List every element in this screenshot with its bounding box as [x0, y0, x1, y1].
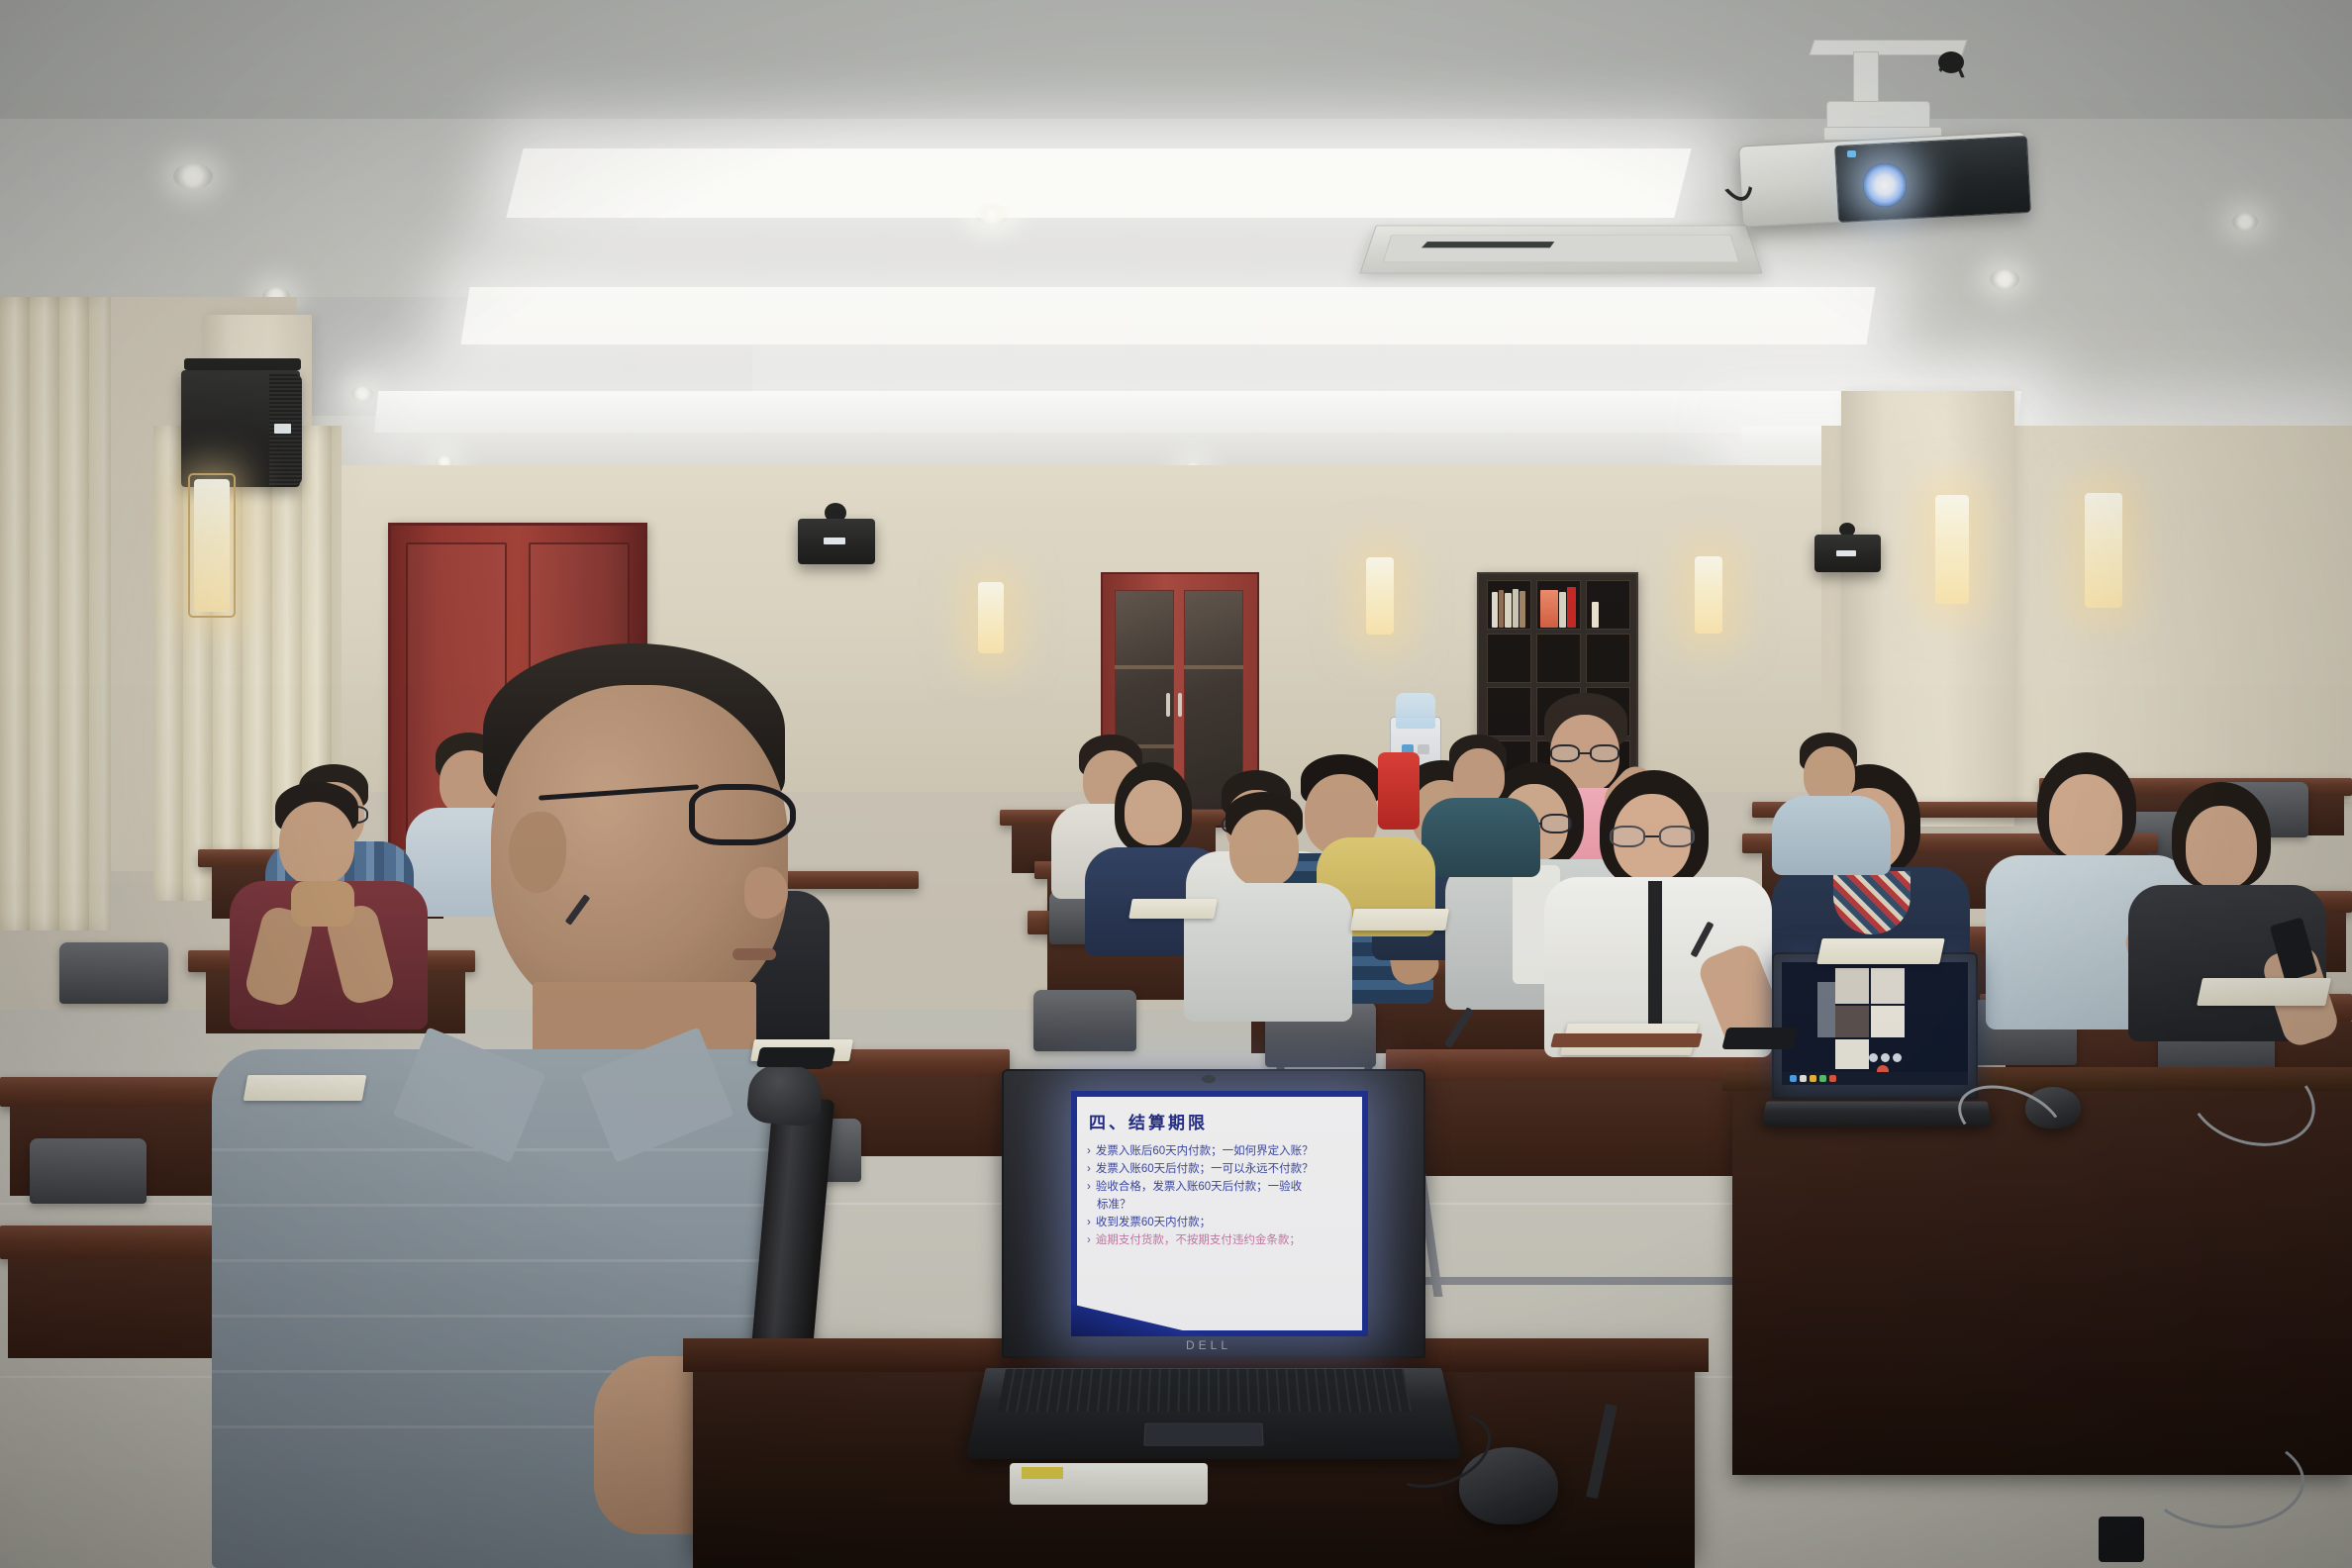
ceiling-light-panel-1 [506, 148, 1691, 218]
book-4 [1513, 589, 1519, 628]
projector-status-led [1847, 150, 1856, 157]
attendee-back-right-blue [1772, 733, 1891, 861]
slide-bullet-text-3: 验收合格，发票入账60天后付款；一验收 [1096, 1178, 1302, 1196]
wall-sconce-3 [1695, 556, 1722, 634]
shelf-cell-6 [1586, 634, 1630, 683]
book-3 [1505, 593, 1512, 628]
projector-cable-grommet [1938, 51, 1964, 73]
vc-dock-icon-3[interactable] [1810, 1075, 1816, 1082]
power-adapter [2099, 1517, 2144, 1562]
presenter-shirt-stripe-3 [212, 1259, 806, 1262]
book-6 [1540, 590, 1558, 628]
slide-bullet-6: › 逾期支付货款，不按期支付违约金条款； [1087, 1231, 1360, 1249]
presenter-nose [744, 867, 788, 919]
cabinet-handle-left[interactable] [1166, 693, 1170, 717]
vc-dock-icon-5[interactable] [1829, 1075, 1836, 1082]
bullet-marker-2: › [1087, 1160, 1091, 1178]
slide-bullet-list: › 发票入账后60天内付款；一如何界定入账？ › 发票入账60天后付款；一可以永… [1087, 1142, 1360, 1249]
recessed-downlight-3 [351, 386, 373, 401]
vc-tile-1 [1835, 968, 1869, 1004]
slide-bullet-text-5: 收到发票60天内付款； [1096, 1214, 1211, 1231]
vc-tile-6 [1817, 982, 1835, 1037]
recessed-downlight-7 [1990, 269, 2019, 289]
presentation-slide: 四、结算期限 › 发票入账后60天内付款；一如何界定入账？ › 发票入账60天后… [1071, 1091, 1368, 1336]
ceiling-slab-upper [0, 0, 2352, 119]
projector-lens [1863, 163, 1907, 207]
cabinet-shelf-2 [1184, 665, 1243, 669]
slide-bullet-text-6: 逾期支付货款，不按期支付违约金条款； [1096, 1231, 1301, 1249]
wall-sconce-left-frame [188, 473, 236, 618]
book-1 [1492, 592, 1498, 628]
recessed-downlight-8 [2232, 213, 2258, 231]
notebook-7[interactable] [244, 1075, 367, 1101]
vc-dock-icon-2[interactable] [1800, 1075, 1807, 1082]
notebook-5[interactable] [1350, 909, 1449, 931]
bullet-marker-3: › [1087, 1178, 1091, 1196]
slide-bullet-text-1: 发票入账后60天内付款；一如何界定入账？ [1096, 1142, 1314, 1160]
book-5 [1519, 591, 1525, 628]
vc-dock-icon-1[interactable] [1790, 1075, 1797, 1082]
vc-tile-5 [1835, 1039, 1869, 1069]
book-9 [1592, 602, 1599, 628]
speaker-left-badge [274, 424, 291, 434]
wall-sconce-2 [1366, 557, 1394, 635]
recessed-downlight-1 [173, 163, 213, 189]
bullet-marker-6: › [1087, 1231, 1091, 1249]
recessed-downlight-5 [975, 203, 1009, 226]
presenter-shirt-stripe-4 [212, 1315, 806, 1318]
chair-9[interactable] [1033, 990, 1136, 1051]
notebook-6[interactable] [1128, 899, 1218, 919]
vc-tile-3 [1835, 1006, 1869, 1037]
presenter-shirt-stripe-2 [212, 1204, 806, 1207]
projector-mount-pole [1853, 51, 1879, 107]
floor-cable-loop [2146, 1433, 2304, 1528]
cabinet-handle-right[interactable] [1178, 693, 1182, 717]
ceiling-cassette-ac [1359, 226, 1762, 274]
ceiling-light-panel-2 [460, 287, 1875, 344]
presenter-laptop-brand: DELL [1174, 1338, 1243, 1352]
presenter-mouth [733, 948, 776, 960]
shelf-cell-4 [1487, 634, 1531, 683]
wall-sconce-1 [978, 582, 1004, 653]
water-cooler-bottle [1396, 693, 1435, 729]
book-2 [1499, 590, 1504, 628]
presenter-glasses [539, 784, 796, 847]
shelf-cell-5 [1536, 634, 1581, 683]
book-8 [1567, 587, 1576, 628]
wall-sconce-5 [2085, 493, 2122, 608]
vc-tile-2 [1871, 968, 1905, 1004]
vc-control-video[interactable] [1881, 1053, 1890, 1062]
chair-2[interactable] [30, 1138, 147, 1204]
slide-bullet-3: › 验收合格，发票入账60天后付款；一验收 [1087, 1178, 1360, 1196]
chair-1[interactable] [59, 942, 168, 1004]
book-7 [1559, 592, 1566, 628]
vc-control-share[interactable] [1893, 1053, 1902, 1062]
video-conference-screen [1782, 962, 1968, 1085]
presenter-laptop-webcam [1202, 1075, 1216, 1083]
classroom-photograph: 四、结算期限 › 发票入账后60天内付款；一如何界定入账？ › 发票入账60天后… [0, 0, 2352, 1568]
slide-title: 四、结算期限 [1089, 1109, 1208, 1133]
presenter-laptop-keyboard[interactable] [998, 1369, 1412, 1412]
slide-bullet-1: › 发票入账后60天内付款；一如何界定入账？ [1087, 1142, 1360, 1160]
presenter-laptop-trackpad[interactable] [1143, 1423, 1263, 1446]
phone-on-desk-1[interactable] [1721, 1028, 1798, 1049]
speaker-left-bracket [184, 358, 301, 370]
slide-bullet-text-2: 发票入账60天后付款；一可以永远不付款？ [1096, 1160, 1314, 1178]
vc-tile-4 [1871, 1006, 1905, 1037]
speaker-center-badge [824, 538, 845, 544]
wall-sconce-4 [1935, 495, 1969, 604]
slide-bullet-2: › 发票入账60天后付款；一可以永远不付款？ [1087, 1160, 1360, 1178]
vc-dock-icon-4[interactable] [1819, 1075, 1826, 1082]
paper-label [1022, 1467, 1063, 1479]
notebook-cover-1 [1550, 1033, 1702, 1047]
speaker-right-badge [1836, 550, 1856, 556]
slide-bullet-text-4: 标准？ [1097, 1196, 1131, 1214]
slide-bullet-5: › 收到发票60天内付款； [1087, 1214, 1360, 1231]
bullet-marker-5: › [1087, 1214, 1091, 1231]
attendee-teal-top [1421, 735, 1540, 863]
notebook-3[interactable] [1816, 938, 1945, 964]
attendee-white-blouse [1544, 770, 1772, 1057]
vc-control-mute[interactable] [1869, 1053, 1878, 1062]
bullet-marker-1: › [1087, 1142, 1091, 1160]
cabinet-shelf-1 [1115, 665, 1174, 669]
phone-on-desk-2[interactable] [756, 1047, 835, 1067]
slide-bullet-4: 标准？ [1087, 1196, 1360, 1214]
curtain-far-left [0, 297, 111, 931]
notebook-4[interactable] [2197, 978, 2331, 1006]
